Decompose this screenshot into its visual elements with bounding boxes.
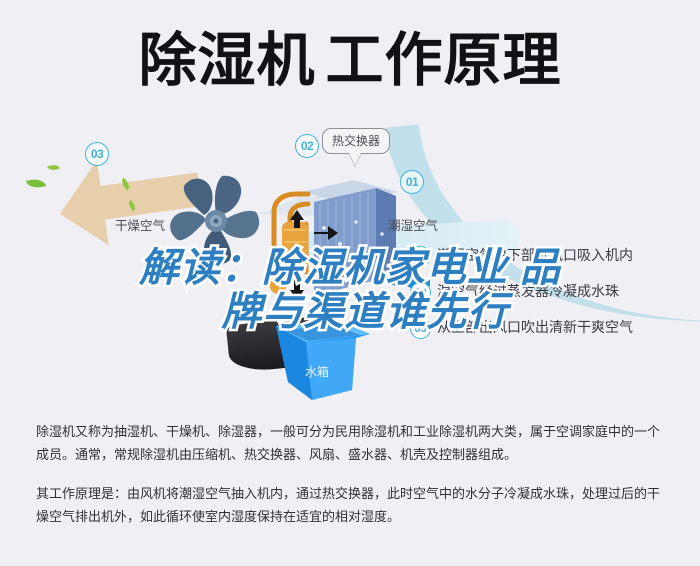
title-part-2: 工作原理 — [326, 28, 562, 93]
badge-03: 03 — [85, 142, 109, 166]
paragraph-1: 除湿机又称为抽湿机、干燥机、除湿器，一般可分为民用除湿机和工业除湿机两大类，属于… — [36, 420, 666, 466]
overlay-line-2: 牌与渠道谁先行 — [0, 290, 700, 334]
overlay-line-1: 解读：除湿机家电业 品 — [0, 246, 700, 290]
body-copy: 除湿机又称为抽湿机、干燥机、除湿器，一般可分为民用除湿机和工业除湿机两大类，属于… — [36, 420, 666, 528]
dry-air-label: 干燥空气 — [115, 215, 165, 234]
heat-exchanger-callout-label: 热交换器 — [332, 134, 380, 148]
leaf-icon — [26, 175, 47, 191]
heat-exchanger-callout: 热交换器 — [322, 128, 390, 154]
humid-air-label: 潮湿空气 — [388, 215, 438, 234]
page-title: 除湿机工作原理 — [0, 28, 700, 94]
title-part-1: 除湿机 — [138, 28, 315, 93]
badge-02: 02 — [295, 134, 319, 158]
water-tank-label: 水箱 — [305, 363, 329, 380]
callout-tail-icon — [349, 153, 361, 166]
paragraph-2: 其工作原理是：由风机将潮湿空气抽入机内，通过热交换器，此时空气中的水分子冷凝成水… — [36, 482, 666, 528]
badge-01: 01 — [400, 170, 424, 194]
infographic-page: 除湿机工作原理 — [0, 0, 700, 566]
overlay-headline: 解读：除湿机家电业 品 牌与渠道谁先行 — [0, 246, 700, 334]
